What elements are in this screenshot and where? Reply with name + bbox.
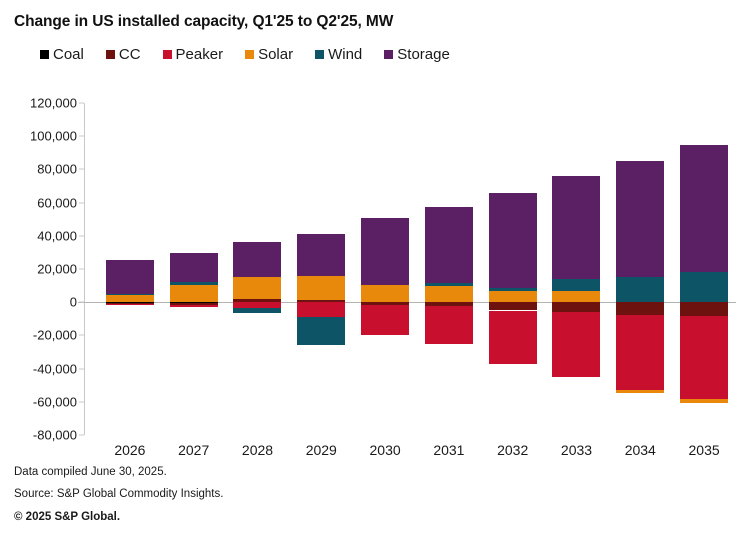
bar-segment-peaker-2029[interactable] [297,302,345,317]
legend-item-wind[interactable]: Wind [315,46,362,63]
y-axis-tick-label: 60,000 [37,195,77,210]
bar-segment-storage-2031[interactable] [425,207,473,283]
bar-segment-wind-2026[interactable] [106,294,154,295]
legend-item-label: Wind [328,46,362,63]
bar-segment-peaker-2031[interactable] [425,306,473,343]
bar-stack [162,103,226,435]
bar-segment-wind-2033[interactable] [552,279,600,291]
bar-stack [353,103,417,435]
bar-segment-peaker-2030[interactable] [361,305,409,335]
bar-group-2035[interactable]: 2035 [672,103,736,435]
footnote-source: Source: S&P Global Commodity Insights. [14,488,223,500]
bar-segment-wind-2028[interactable] [233,308,281,313]
bar-segment-solar-2034[interactable] [616,390,664,392]
legend-swatch-icon [315,50,324,59]
bar-segment-cc-2033[interactable] [552,302,600,312]
bar-segment-wind-2031[interactable] [425,283,473,285]
bar-group-2032[interactable]: 2032 [481,103,545,435]
bar-segment-wind-2027[interactable] [170,282,218,284]
bar-stack [226,103,290,435]
legend-item-label: CC [119,46,141,63]
legend-swatch-icon [245,50,254,59]
bar-segment-wind-2032[interactable] [489,288,537,291]
bar-segment-cc-2032[interactable] [489,302,537,310]
bar-segment-peaker-2032[interactable] [489,311,537,365]
bar-segment-solar-2030[interactable] [361,285,409,302]
bar-segment-solar-2033[interactable] [552,291,600,303]
bar-segment-storage-2033[interactable] [552,176,600,279]
legend-item-label: Coal [53,46,84,63]
bar-segment-wind-2035[interactable] [680,272,728,302]
legend-item-label: Solar [258,46,293,63]
x-axis-tick-label: 2026 [98,442,162,458]
legend-swatch-icon [384,50,393,59]
bar-group-2029[interactable]: 2029 [289,103,353,435]
x-axis-tick-label: 2028 [226,442,290,458]
legend-swatch-icon [163,50,172,59]
bar-segment-storage-2030[interactable] [361,218,409,284]
x-axis-tick-label: 2032 [481,442,545,458]
bar-segment-storage-2035[interactable] [680,145,728,273]
bar-stack [672,103,736,435]
y-axis-tick-label: 100,000 [30,129,77,144]
footnote-copyright: © 2025 S&P Global. [14,511,120,523]
legend-item-coal[interactable]: Coal [40,46,84,63]
x-axis-tick-label: 2031 [417,442,481,458]
y-axis-tick-label: -40,000 [33,361,77,376]
bar-segment-solar-2031[interactable] [425,286,473,303]
bar-segment-peaker-2033[interactable] [552,312,600,377]
y-axis-tick-label: -20,000 [33,328,77,343]
bar-segment-storage-2034[interactable] [616,161,664,277]
bar-stack [289,103,353,435]
footnote-data-compiled: Data compiled June 30, 2025. [14,466,167,478]
bar-group-2033[interactable]: 2033 [545,103,609,435]
legend-item-peaker[interactable]: Peaker [163,46,224,63]
bar-series-container: 2026202720282029203020312032203320342035 [84,103,736,435]
bar-segment-peaker-2026[interactable] [106,304,154,305]
bar-segment-storage-2027[interactable] [170,253,218,282]
legend-item-label: Storage [397,46,450,63]
bar-segment-peaker-2035[interactable] [680,316,728,399]
bar-segment-peaker-2027[interactable] [170,305,218,307]
bar-group-2027[interactable]: 2027 [162,103,226,435]
bar-stack [608,103,672,435]
bar-segment-storage-2026[interactable] [106,260,154,294]
bar-segment-solar-2027[interactable] [170,285,218,302]
plot-area: 120,000100,00080,00060,00040,00020,0000-… [84,103,736,435]
legend-item-storage[interactable]: Storage [384,46,450,63]
bar-group-2034[interactable]: 2034 [608,103,672,435]
legend-swatch-icon [40,50,49,59]
x-axis-tick-label: 2029 [289,442,353,458]
bar-segment-peaker-2034[interactable] [616,315,664,390]
bar-segment-cc-2035[interactable] [680,302,728,316]
chart-title: Change in US installed capacity, Q1'25 t… [14,13,393,31]
legend-swatch-icon [106,50,115,59]
y-axis-tick-label: 80,000 [37,162,77,177]
bar-segment-wind-2034[interactable] [616,277,664,302]
bar-group-2028[interactable]: 2028 [226,103,290,435]
bar-segment-solar-2029[interactable] [297,276,345,300]
bar-segment-wind-2029[interactable] [297,317,345,344]
bar-stack [481,103,545,435]
y-axis-tick-label: 40,000 [37,228,77,243]
y-axis-tick-label: -60,000 [33,394,77,409]
bar-segment-storage-2029[interactable] [297,234,345,276]
x-axis-tick-label: 2030 [353,442,417,458]
x-axis-tick-label: 2034 [608,442,672,458]
bar-stack [417,103,481,435]
chart-root: Change in US installed capacity, Q1'25 t… [0,0,746,539]
x-axis-tick-label: 2027 [162,442,226,458]
legend-item-solar[interactable]: Solar [245,46,293,63]
bar-group-2030[interactable]: 2030 [353,103,417,435]
bar-stack [545,103,609,435]
bar-segment-storage-2032[interactable] [489,193,537,288]
x-axis-tick-label: 2033 [545,442,609,458]
legend-item-cc[interactable]: CC [106,46,141,63]
bar-segment-solar-2035[interactable] [680,399,728,402]
bar-group-2026[interactable]: 2026 [98,103,162,435]
y-axis-tick-label: 20,000 [37,262,77,277]
chart-legend: CoalCCPeakerSolarWindStorage [40,46,472,63]
bar-segment-solar-2026[interactable] [106,295,154,302]
bar-segment-solar-2032[interactable] [489,291,537,302]
y-axis-tick-label: 0 [70,295,77,310]
bar-group-2031[interactable]: 2031 [417,103,481,435]
bar-segment-cc-2034[interactable] [616,302,664,315]
bar-segment-solar-2028[interactable] [233,277,281,299]
bar-segment-storage-2028[interactable] [233,242,281,277]
bar-stack [98,103,162,435]
x-axis-tick-label: 2035 [672,442,736,458]
y-axis-tick-label: 120,000 [30,96,77,111]
y-axis-tick-label: -80,000 [33,428,77,443]
legend-item-label: Peaker [176,46,224,63]
